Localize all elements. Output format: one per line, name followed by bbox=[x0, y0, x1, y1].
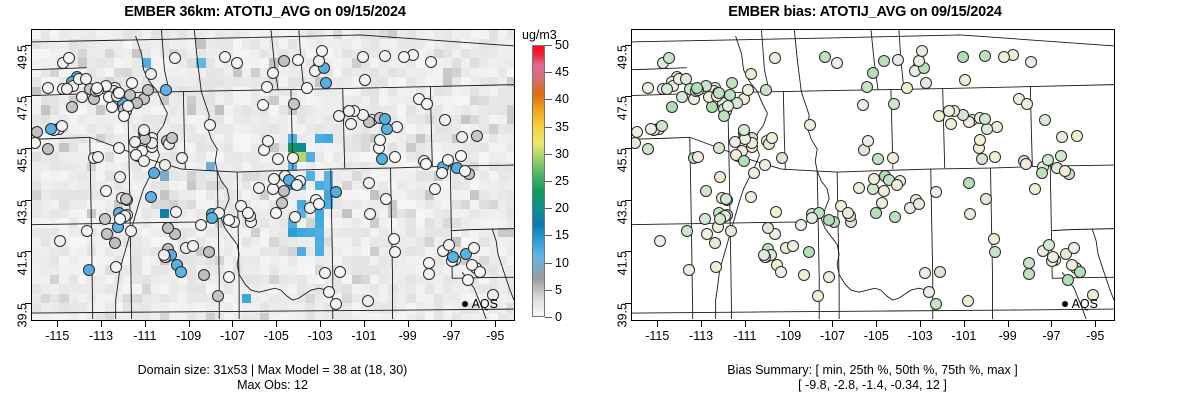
x-tick bbox=[189, 321, 190, 327]
observation-marker bbox=[421, 98, 433, 110]
observation-marker bbox=[334, 266, 346, 278]
observation-marker bbox=[964, 208, 976, 220]
observation-marker bbox=[1056, 131, 1068, 143]
observation-marker bbox=[160, 84, 172, 96]
x-tick-label: -113 bbox=[89, 329, 113, 343]
observation-marker bbox=[1021, 98, 1033, 110]
aqs-dot-icon bbox=[1062, 301, 1068, 307]
observation-marker bbox=[676, 91, 688, 103]
observation-marker bbox=[231, 57, 243, 69]
colorbar-tick bbox=[545, 290, 552, 291]
x-tick-label: -97 bbox=[1042, 329, 1060, 343]
observation-marker bbox=[423, 257, 435, 269]
observation-marker bbox=[278, 185, 290, 197]
observation-marker bbox=[916, 45, 928, 57]
observation-marker bbox=[1025, 56, 1037, 68]
observation-marker bbox=[867, 67, 879, 79]
observation-marker bbox=[787, 240, 799, 252]
observation-marker bbox=[989, 151, 1001, 163]
observation-marker bbox=[376, 153, 388, 165]
observation-marker bbox=[319, 267, 331, 279]
panel-title-model: EMBER 36km: ATOTIJ_AVG on 09/15/2024 bbox=[0, 4, 530, 20]
observation-marker bbox=[868, 173, 880, 185]
observation-marker bbox=[436, 167, 448, 179]
x-tick bbox=[1051, 321, 1052, 327]
observation-marker bbox=[219, 51, 231, 63]
observation-marker bbox=[1023, 268, 1035, 280]
observation-marker bbox=[959, 74, 971, 86]
x-tick bbox=[451, 321, 452, 327]
observation-marker bbox=[1047, 251, 1059, 263]
observation-marker bbox=[91, 82, 103, 94]
observation-marker bbox=[462, 274, 474, 286]
observation-marker bbox=[110, 261, 122, 273]
colorbar-tick bbox=[545, 181, 552, 182]
observation-marker bbox=[758, 249, 770, 261]
observation-marker bbox=[872, 153, 884, 165]
observation-marker bbox=[930, 186, 942, 198]
x-tick-label: -103 bbox=[308, 329, 333, 343]
observation-marker bbox=[198, 269, 210, 281]
observation-marker bbox=[262, 135, 274, 147]
observation-marker bbox=[292, 54, 304, 66]
observation-marker bbox=[775, 266, 787, 278]
observation-marker bbox=[798, 269, 810, 281]
observation-marker bbox=[1043, 239, 1055, 251]
colorbar-tick bbox=[545, 99, 552, 100]
observation-marker bbox=[887, 152, 899, 164]
observation-marker bbox=[100, 185, 112, 197]
observation-marker bbox=[862, 135, 874, 147]
colorbar-gradient-model bbox=[532, 45, 545, 317]
x-tick bbox=[320, 321, 321, 327]
observation-marker bbox=[468, 242, 480, 254]
observation-marker bbox=[930, 298, 942, 310]
observation-marker bbox=[691, 82, 703, 94]
observation-marker bbox=[54, 235, 66, 247]
observation-marker bbox=[42, 143, 54, 155]
observation-marker bbox=[212, 290, 224, 302]
x-tick bbox=[964, 321, 965, 327]
observation-marker bbox=[1039, 114, 1051, 126]
panel-bias: EMBER bias: ATOTIJ_AVG on 09/15/2024 39.… bbox=[600, 0, 1200, 409]
observation-marker bbox=[257, 99, 269, 111]
observation-marker bbox=[323, 286, 335, 298]
observation-marker bbox=[1020, 158, 1032, 170]
observation-marker bbox=[776, 152, 788, 164]
observation-marker bbox=[126, 77, 138, 89]
observation-marker bbox=[945, 118, 957, 130]
observation-marker bbox=[713, 87, 725, 99]
observation-marker bbox=[963, 177, 975, 189]
observation-marker bbox=[1023, 257, 1035, 269]
x-tick bbox=[920, 321, 921, 327]
observation-marker bbox=[661, 83, 673, 95]
observation-marker bbox=[861, 81, 873, 93]
observation-marker bbox=[878, 185, 890, 197]
y-axis-bias: 39.541.543.545.547.549.5 bbox=[600, 29, 631, 321]
x-tick bbox=[1008, 321, 1009, 327]
observation-marker bbox=[642, 143, 654, 155]
observation-marker bbox=[710, 261, 722, 273]
x-tick-label: -95 bbox=[1086, 329, 1104, 343]
observation-marker bbox=[170, 206, 182, 218]
observation-marker bbox=[812, 290, 824, 302]
observation-marker bbox=[979, 113, 991, 125]
observation-markers-bias bbox=[632, 30, 1114, 320]
observation-marker bbox=[113, 87, 125, 99]
colorbar-tick-label: 30 bbox=[555, 147, 569, 161]
observation-marker bbox=[330, 298, 342, 310]
colorbar-tick-label: 45 bbox=[555, 65, 569, 79]
x-tick-label: -107 bbox=[220, 329, 245, 343]
observation-marker bbox=[31, 137, 41, 149]
observation-marker bbox=[459, 165, 471, 177]
observation-marker bbox=[934, 266, 946, 278]
observation-marker bbox=[713, 142, 725, 154]
x-tick-label: -99 bbox=[999, 329, 1017, 343]
observation-marker bbox=[345, 118, 357, 130]
x-tick bbox=[495, 321, 496, 327]
observation-marker bbox=[663, 52, 675, 64]
x-tick bbox=[1095, 321, 1096, 327]
x-tick bbox=[832, 321, 833, 327]
observation-marker bbox=[195, 219, 207, 231]
observation-marker bbox=[206, 212, 218, 224]
observation-marker bbox=[724, 89, 736, 101]
x-tick bbox=[232, 321, 233, 327]
aqs-legend-bias: AQS bbox=[1062, 298, 1098, 311]
observation-marker bbox=[759, 159, 771, 171]
map-model: AQS bbox=[31, 29, 515, 321]
x-tick-label: -101 bbox=[951, 329, 976, 343]
observation-marker bbox=[242, 207, 254, 219]
observation-marker bbox=[301, 82, 313, 94]
observation-marker bbox=[175, 266, 187, 278]
observation-marker bbox=[1059, 165, 1071, 177]
aqs-legend-model: AQS bbox=[462, 298, 498, 311]
observation-marker bbox=[425, 56, 437, 68]
x-tick bbox=[701, 321, 702, 327]
x-tick bbox=[789, 321, 790, 327]
colorbar-tick-label: 35 bbox=[555, 120, 569, 134]
x-tick bbox=[57, 321, 58, 327]
observation-marker bbox=[176, 152, 188, 164]
observation-marker bbox=[278, 55, 290, 67]
observation-marker bbox=[364, 208, 376, 220]
observation-marker bbox=[803, 246, 815, 258]
colorbar-tick bbox=[545, 235, 552, 236]
observation-marker bbox=[957, 51, 969, 63]
observation-marker bbox=[962, 295, 974, 307]
aqs-legend-label: AQS bbox=[1072, 298, 1098, 311]
observation-marker bbox=[380, 193, 392, 205]
observation-marker bbox=[913, 198, 925, 210]
observation-marker bbox=[742, 84, 754, 96]
observation-marker bbox=[738, 155, 750, 167]
observation-marker bbox=[989, 246, 1001, 258]
observation-marker bbox=[158, 249, 170, 261]
x-axis-model: -115-113-111-109-107-105-103-101-99-97-9… bbox=[31, 321, 515, 351]
observation-marker bbox=[923, 286, 935, 298]
observation-marker bbox=[842, 207, 854, 219]
x-tick-label: -107 bbox=[820, 329, 845, 343]
colorbar-tick-label: 40 bbox=[555, 92, 569, 106]
observation-marker bbox=[654, 235, 666, 247]
caption-bias-line1: Bias Summary: [ min, 25th %, 50th %, 75t… bbox=[600, 363, 1145, 378]
observation-marker bbox=[120, 193, 132, 205]
colorbar-tick-label: 0 bbox=[555, 310, 562, 324]
x-tick-label: -101 bbox=[351, 329, 376, 343]
observation-marker bbox=[760, 84, 772, 96]
observation-marker bbox=[766, 132, 778, 144]
observation-marker bbox=[114, 213, 126, 225]
observation-marker bbox=[891, 179, 903, 191]
observation-marker bbox=[976, 153, 988, 165]
observation-marker bbox=[357, 51, 369, 63]
observation-marker bbox=[901, 82, 913, 94]
observation-marker bbox=[66, 101, 78, 113]
observation-marker bbox=[61, 83, 73, 95]
x-tick-label: -97 bbox=[442, 329, 460, 343]
observation-marker bbox=[124, 89, 136, 101]
colorbar-tick bbox=[545, 45, 552, 46]
y-axis-model: 39.541.543.545.547.549.5 bbox=[0, 29, 31, 321]
observation-marker bbox=[159, 159, 171, 171]
observation-marker bbox=[125, 225, 137, 237]
observation-marker bbox=[795, 219, 807, 231]
observation-marker bbox=[745, 68, 757, 80]
observation-marker bbox=[379, 113, 391, 125]
observation-marker bbox=[81, 225, 93, 237]
observation-marker bbox=[56, 120, 68, 132]
observation-marker bbox=[714, 171, 726, 183]
observation-marker bbox=[447, 251, 459, 263]
observation-marker bbox=[330, 186, 342, 198]
observation-marker bbox=[63, 52, 75, 64]
observation-marker bbox=[455, 150, 467, 162]
x-tick-label: -105 bbox=[264, 329, 289, 343]
observation-marker bbox=[656, 120, 668, 132]
observation-marker bbox=[268, 173, 280, 185]
colorbar-unit-label-model: ug/m3 bbox=[522, 28, 557, 42]
observation-marker bbox=[420, 158, 432, 170]
observation-marker bbox=[642, 82, 654, 94]
colorbar-tick-label: 20 bbox=[555, 201, 569, 215]
colorbar-tick-label: 25 bbox=[555, 174, 569, 188]
observation-marker bbox=[683, 264, 695, 276]
observation-marker bbox=[867, 183, 879, 195]
x-tick bbox=[745, 321, 746, 327]
x-axis-bias: -115-113-111-109-107-105-103-101-99-97-9… bbox=[631, 321, 1115, 351]
x-tick bbox=[876, 321, 877, 327]
observation-marker bbox=[261, 81, 273, 93]
observation-marker bbox=[313, 198, 325, 210]
observation-marker bbox=[692, 151, 704, 163]
observation-marker bbox=[770, 206, 782, 218]
observation-marker bbox=[471, 130, 483, 142]
observation-marker bbox=[113, 142, 125, 154]
observation-marker bbox=[878, 55, 890, 67]
observation-marker bbox=[718, 110, 730, 122]
observation-marker bbox=[748, 167, 760, 179]
observation-marker bbox=[187, 240, 199, 252]
x-tick-label: -115 bbox=[645, 329, 669, 343]
x-tick-label: -105 bbox=[864, 329, 889, 343]
colorbar-tick bbox=[545, 263, 552, 264]
x-tick-label: -99 bbox=[399, 329, 417, 343]
observation-marker bbox=[666, 101, 678, 113]
observation-markers-model bbox=[32, 30, 514, 320]
observation-marker bbox=[769, 52, 781, 64]
caption-model-line1: Domain size: 31x53 | Max Model = 38 at (… bbox=[0, 363, 545, 378]
x-tick-label: -111 bbox=[733, 329, 756, 343]
observation-marker bbox=[389, 246, 401, 258]
observation-marker bbox=[267, 183, 279, 195]
observation-marker bbox=[398, 51, 410, 63]
colorbar-tick bbox=[545, 127, 552, 128]
map-bias: AQS bbox=[631, 29, 1115, 321]
observation-marker bbox=[359, 74, 371, 86]
observation-marker bbox=[169, 52, 181, 64]
observation-marker bbox=[1029, 183, 1041, 195]
observation-marker bbox=[148, 167, 160, 179]
observation-marker bbox=[289, 211, 301, 223]
observation-marker bbox=[423, 268, 435, 280]
colorbar-tick bbox=[545, 72, 552, 73]
observation-marker bbox=[443, 239, 455, 251]
observation-marker bbox=[974, 134, 986, 146]
observation-marker bbox=[681, 225, 693, 237]
observation-marker bbox=[288, 98, 300, 110]
aqs-dot-icon bbox=[462, 301, 468, 307]
panel-title-bias: EMBER bias: ATOTIJ_AVG on 09/15/2024 bbox=[600, 4, 1130, 20]
x-tick bbox=[408, 321, 409, 327]
x-tick bbox=[145, 321, 146, 327]
x-tick-label: -103 bbox=[908, 329, 933, 343]
observation-marker bbox=[1036, 167, 1048, 179]
observation-marker bbox=[316, 45, 328, 57]
observation-marker bbox=[853, 182, 865, 194]
observation-marker bbox=[267, 67, 279, 79]
observation-marker bbox=[145, 191, 157, 203]
colorbar-tick bbox=[545, 208, 552, 209]
colorbar-tick bbox=[545, 317, 552, 318]
observation-marker bbox=[162, 222, 174, 234]
observation-marker bbox=[823, 271, 835, 283]
colorbar-tick-label: 15 bbox=[555, 228, 569, 242]
aqs-legend-label: AQS bbox=[472, 298, 498, 311]
observation-marker bbox=[374, 134, 386, 146]
observation-marker bbox=[388, 233, 400, 245]
observation-marker bbox=[76, 91, 88, 103]
x-tick-label: -109 bbox=[176, 329, 201, 343]
observation-marker bbox=[806, 212, 818, 224]
observation-marker bbox=[762, 222, 774, 234]
x-tick-label: -111 bbox=[133, 329, 156, 343]
caption-model-line2: Max Obs: 12 bbox=[0, 378, 545, 393]
observation-marker bbox=[919, 267, 931, 279]
x-tick-label: -113 bbox=[689, 329, 713, 343]
observation-marker bbox=[456, 131, 468, 143]
x-tick-label: -109 bbox=[776, 329, 801, 343]
observation-marker bbox=[204, 119, 216, 131]
panel-model: EMBER 36km: ATOTIJ_AVG on 09/15/2024 39.… bbox=[0, 0, 600, 409]
observation-marker bbox=[920, 77, 932, 89]
colorbar-tick bbox=[545, 154, 552, 155]
observation-marker bbox=[1071, 130, 1083, 142]
observation-marker bbox=[831, 57, 843, 69]
observation-marker bbox=[429, 183, 441, 195]
observation-marker bbox=[725, 225, 737, 237]
observation-marker bbox=[363, 177, 375, 189]
observation-marker bbox=[389, 151, 401, 163]
observation-marker bbox=[253, 182, 265, 194]
observation-marker bbox=[726, 77, 738, 89]
observation-marker bbox=[114, 171, 126, 183]
observation-marker bbox=[138, 155, 150, 167]
observation-marker bbox=[998, 51, 1010, 63]
observation-marker bbox=[804, 119, 816, 131]
observation-marker bbox=[1068, 242, 1080, 254]
observation-marker bbox=[42, 82, 54, 94]
observation-marker bbox=[1062, 274, 1074, 286]
caption-bias-line2: [ -9.8, -2.8, -1.4, -0.34, 12 ] bbox=[600, 378, 1145, 393]
observation-marker bbox=[109, 237, 121, 249]
observation-marker bbox=[720, 193, 732, 205]
x-tick-label: -115 bbox=[45, 329, 69, 343]
observation-marker bbox=[631, 137, 641, 149]
observation-marker bbox=[166, 132, 178, 144]
observation-marker bbox=[980, 193, 992, 205]
observation-marker bbox=[223, 271, 235, 283]
figure-root: EMBER 36km: ATOTIJ_AVG on 09/15/2024 39.… bbox=[0, 0, 1200, 409]
observation-marker bbox=[362, 295, 374, 307]
observation-marker bbox=[714, 213, 726, 225]
observation-marker bbox=[943, 105, 955, 117]
observation-marker bbox=[870, 207, 882, 219]
observation-marker bbox=[343, 105, 355, 117]
observation-marker bbox=[99, 213, 111, 225]
x-tick bbox=[276, 321, 277, 327]
observation-marker bbox=[889, 211, 901, 223]
observation-marker bbox=[709, 237, 721, 249]
observation-marker bbox=[92, 151, 104, 163]
observation-marker bbox=[83, 264, 95, 276]
colorbar-tick-label: 5 bbox=[555, 283, 562, 297]
observation-marker bbox=[145, 68, 157, 80]
observation-marker bbox=[379, 50, 391, 62]
observation-marker bbox=[1055, 150, 1067, 162]
observation-marker bbox=[142, 84, 154, 96]
x-tick-label: -95 bbox=[486, 329, 504, 343]
observation-marker bbox=[287, 152, 299, 164]
observation-marker bbox=[888, 98, 900, 110]
observation-marker bbox=[892, 54, 904, 66]
observation-marker bbox=[320, 77, 332, 89]
observation-marker bbox=[118, 110, 130, 122]
observation-marker bbox=[291, 179, 303, 191]
observation-marker bbox=[699, 213, 711, 225]
observation-marker bbox=[270, 207, 282, 219]
colorbar-tick-label: 10 bbox=[555, 256, 569, 270]
x-tick bbox=[364, 321, 365, 327]
observation-marker bbox=[700, 185, 712, 197]
observation-marker bbox=[988, 233, 1000, 245]
colorbar-tick-label: 50 bbox=[555, 38, 569, 52]
observation-marker bbox=[819, 51, 831, 63]
observation-marker bbox=[439, 114, 451, 126]
